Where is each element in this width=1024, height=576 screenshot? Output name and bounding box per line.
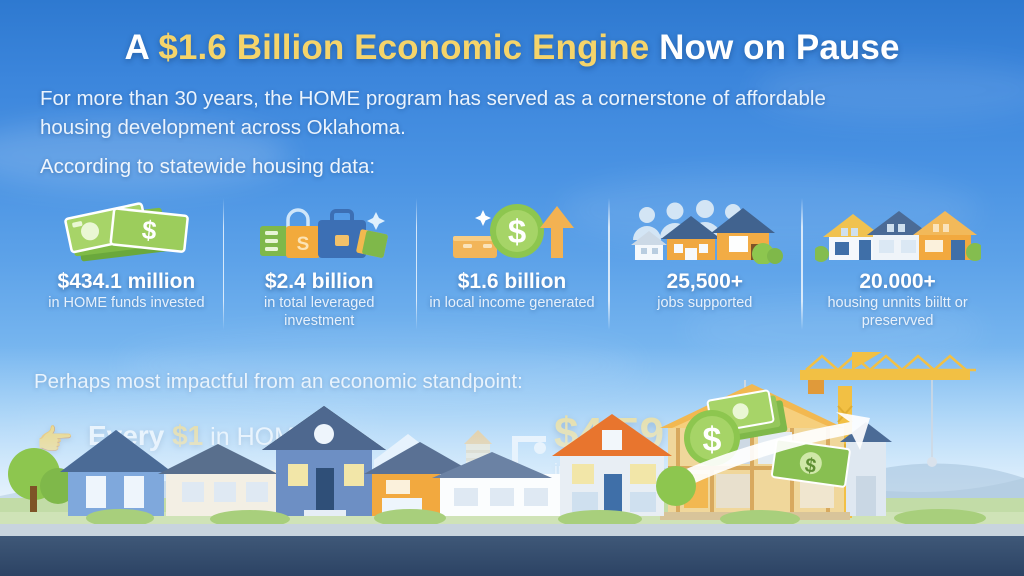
title-prefix: A [124,28,158,67]
people-houses-icon [627,192,783,264]
stat-item: S $2.4 billion in total leveraged invest… [223,192,416,342]
stat-label: in local income generated [429,295,594,313]
stat-label: in total leveraged investment [229,295,410,330]
svg-text:$: $ [508,213,526,250]
stat-item: 20.000+ housing unnits biiltt or preserv… [801,192,994,342]
briefcase-investment-icon: S [244,192,394,264]
stat-item: $ $1.6 billion in local income generated [416,192,609,342]
stat-label: housing unnits biiltt or preservved [807,295,988,330]
statistics-row: $ $434.1 million in HOME funds invested … [30,192,994,342]
stat-item: $ $434.1 million in HOME funds invested [30,192,223,342]
cash-stack-icon: $ [56,192,196,264]
stat-item: 25,500+ jobs supported [608,192,801,342]
stat-value: $434.1 million [58,270,196,294]
stat-label: jobs supported [657,295,752,313]
stat-value: 25,500+ [667,270,744,294]
title-highlight: $1.6 Billion Economic Engine [158,28,649,67]
coin-growth-arrow-icon: $ [439,192,585,264]
svg-text:S: S [297,234,310,255]
stats-lead-text: According to statewide housing data: [40,155,375,179]
page-title: A $1.6 Billion Economic Engine Now on Pa… [0,28,1024,68]
infographic-canvas: A $1.6 Billion Economic Engine Now on Pa… [0,0,1024,576]
title-suffix: Now on Pause [649,28,899,67]
neighborhood-scene: $ $ [0,346,1024,576]
three-houses-icon [815,192,981,264]
stat-label: in HOME funds invested [48,295,204,313]
svg-text:$: $ [703,421,722,459]
stat-value: $1.6 billion [458,270,567,294]
stat-value: $2.4 billion [265,270,374,294]
subtitle-text: For more than 30 years, the HOME program… [40,84,880,142]
stat-value: 20.000+ [859,270,936,294]
